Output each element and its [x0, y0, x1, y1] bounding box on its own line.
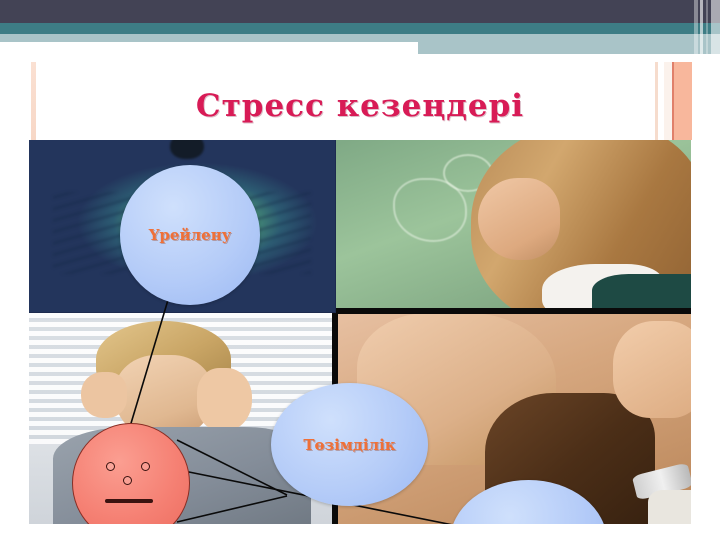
header-stripe-2: [700, 0, 703, 54]
bl-hand-right: [197, 368, 252, 431]
right-accent-stripe-3: [664, 62, 672, 140]
left-accent-stripe: [31, 62, 36, 140]
slide-canvas: Стресс кезеңдері: [0, 0, 720, 540]
br-sleeve: [648, 490, 691, 524]
stage-bubble-1[interactable]: Үрейлену: [120, 165, 260, 305]
header-stripe-4: [711, 0, 720, 54]
photo-top-right: [336, 140, 691, 312]
header-band-pale-right: [418, 34, 720, 54]
collage-divider-horizontal: [336, 308, 691, 314]
face-mouth: [105, 499, 153, 503]
right-accent-stripe-1: [655, 62, 658, 140]
header-stripe-1: [694, 0, 698, 54]
slide-title: Стресс кезеңдері: [0, 88, 720, 124]
header-stripe-3: [706, 0, 708, 54]
photo-collage: Үрейлену Төзімділік Әлсіреу: [29, 140, 691, 524]
header-band-teal: [0, 23, 720, 34]
right-accent-stripe-group: [655, 62, 693, 140]
bl-hand-left: [81, 372, 127, 418]
right-accent-stripe-5: [674, 62, 692, 140]
tl-silhouette: [170, 140, 204, 159]
face-eye-right: [141, 462, 150, 471]
header-band-pale: [0, 34, 418, 42]
face-nose: [123, 476, 132, 485]
stage-bubble-2[interactable]: Төзімділік: [271, 383, 428, 506]
tr-shirt: [592, 274, 691, 312]
stage-bubble-2-label: Төзімділік: [303, 436, 395, 454]
tr-face: [478, 178, 560, 261]
header-band-dark: [0, 0, 720, 23]
stage-bubble-1-label: Үрейлену: [149, 226, 232, 244]
face-eye-left: [106, 462, 115, 471]
br-hand: [613, 321, 691, 418]
